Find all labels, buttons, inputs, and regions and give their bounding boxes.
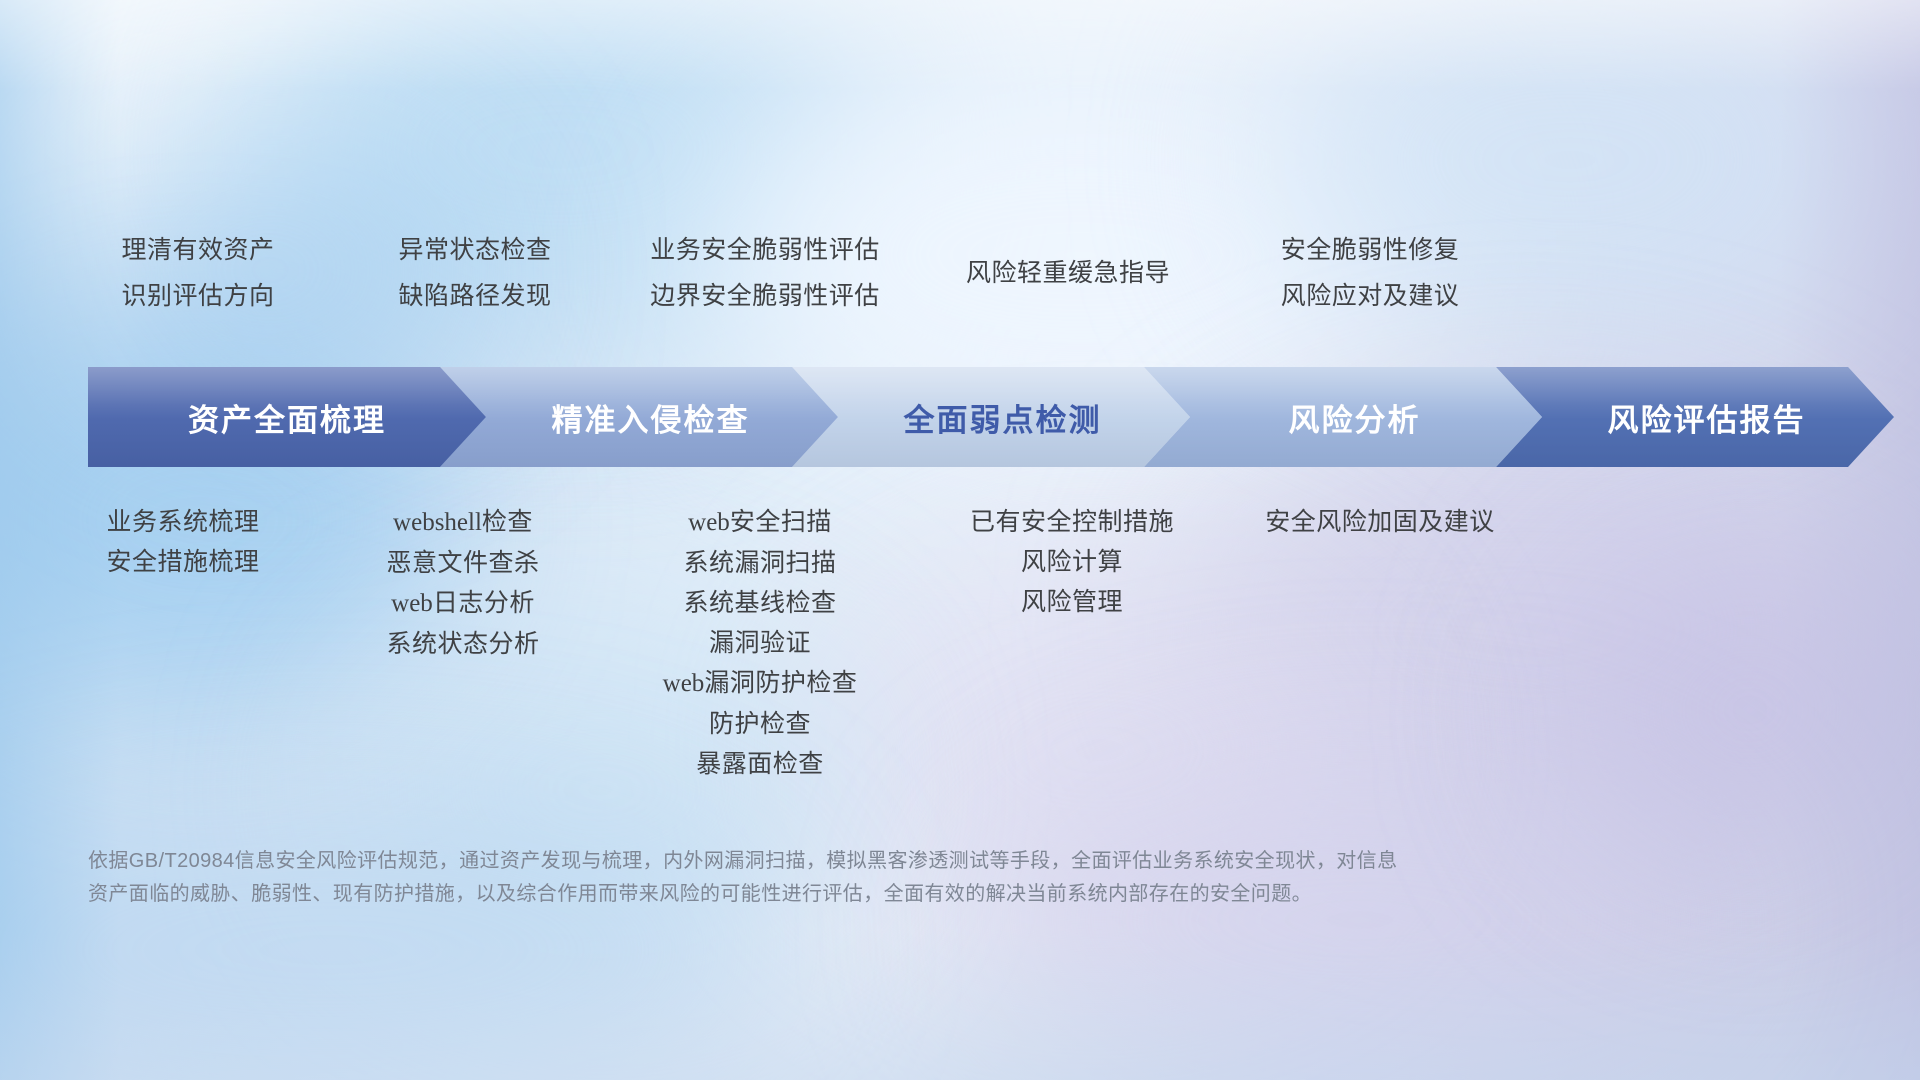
detail-item[interactable]: 暴露面检查	[500, 744, 1020, 784]
stage-title-risk-analysis: 风险分析	[1289, 395, 1421, 440]
detail-item[interactable]: 防护检查	[500, 704, 1020, 744]
latin-token: web	[391, 590, 433, 617]
detail-list-assessment-report: 安全风险加固及建议	[1120, 502, 1640, 542]
footer-line-2: 资产面临的威胁、脆弱性、现有防护措施，以及综合作用而带来风险的可能性进行评估，全…	[88, 878, 1588, 911]
latin-token: web	[688, 509, 730, 536]
stage-arrow-asset-inventory[interactable]: 资产全面梳理	[88, 367, 486, 467]
stage-arrow-intrusion-check[interactable]: 精准入侵检查	[440, 367, 838, 467]
detail-item[interactable]: 风险管理	[812, 582, 1332, 622]
top-label: 风险应对及建议	[1110, 273, 1630, 319]
stage-title-intrusion-check: 精准入侵检查	[552, 395, 750, 440]
footer-line-1: 依据GB/T20984信息安全风险评估规范，通过资产发现与梳理，内外网漏洞扫描，…	[88, 845, 1588, 878]
stage-arrow-band: 资产全面梳理精准入侵检查全面弱点检测风险分析风险评估报告	[88, 367, 1848, 467]
detail-item[interactable]: 风险计算	[812, 542, 1332, 582]
stage-title-asset-inventory: 资产全面梳理	[188, 395, 386, 440]
footer-description: 依据GB/T20984信息安全风险评估规范，通过资产发现与梳理，内外网漏洞扫描，…	[88, 845, 1588, 911]
stage-title-assessment-report: 风险评估报告	[1608, 395, 1806, 440]
latin-token: webshell	[393, 509, 482, 536]
detail-item[interactable]: 漏洞验证	[500, 623, 1020, 663]
top-label-group-assessment-report: 安全脆弱性修复风险应对及建议	[1110, 227, 1630, 319]
detail-item[interactable]: web漏洞防护检查	[500, 663, 1020, 704]
detail-item[interactable]: 安全风险加固及建议	[1120, 502, 1640, 542]
process-diagram: 理清有效资产识别评估方向异常状态检查缺陷路径发现业务安全脆弱性评估边界安全脆弱性…	[0, 0, 1920, 1080]
stage-arrow-assessment-report[interactable]: 风险评估报告	[1496, 367, 1894, 467]
top-label: 安全脆弱性修复	[1110, 227, 1630, 273]
stage-arrow-weakness-detection[interactable]: 全面弱点检测	[792, 367, 1190, 467]
latin-token: web	[663, 670, 705, 697]
stage-title-weakness-detection: 全面弱点检测	[904, 395, 1102, 440]
stage-arrow-risk-analysis[interactable]: 风险分析	[1144, 367, 1542, 467]
